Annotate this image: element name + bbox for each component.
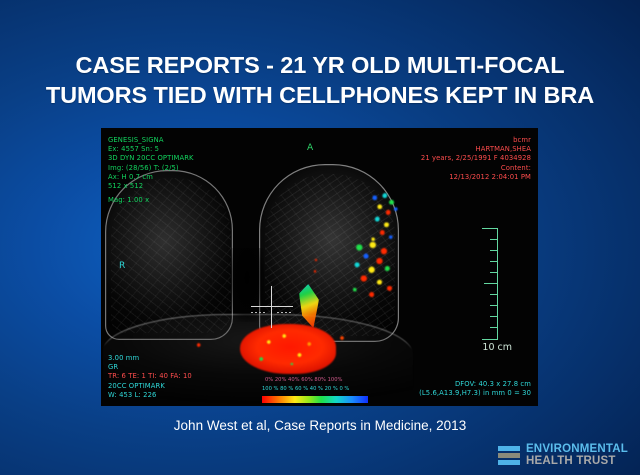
perfusion-overlay-speck-2 <box>336 332 348 344</box>
ruler-tick-major-bottom <box>482 339 498 340</box>
mri-footer-right: DFOV: 40.3 x 27.8 cm (L5.6,A13.9,H7.3) i… <box>419 380 531 398</box>
ruler-spine <box>497 228 498 340</box>
mri-image-panel: GENESIS_SIGNA Ex: 4557 Sn: 5 3D DYN 20CC… <box>101 128 538 406</box>
colorbar-caption-top: 0% 20% 40% 60% 80% 100% <box>265 377 342 384</box>
mri-slice-position: Ax: H 0.7 cm <box>108 173 194 182</box>
mri-institution: bcmr <box>421 136 531 145</box>
ruler-tick-minor <box>490 261 498 262</box>
page-title: CASE REPORTS - 21 YR OLD MULTI-FOCAL TUM… <box>0 50 640 110</box>
mri-protocol: 3D DYN 20CC OPTIMARK <box>108 154 194 163</box>
perfusion-colorbar <box>262 396 368 403</box>
mri-dfov: DFOV: 40.3 x 27.8 cm <box>419 380 531 389</box>
mri-magnification: Mag: 1.00 x <box>108 196 149 205</box>
ruler-tick-minor <box>490 294 498 295</box>
mri-patient-name: HARTMAN,SHEA <box>421 145 531 154</box>
mri-window-level: W: 453 L: 226 <box>108 391 192 400</box>
ruler-tick-major-top <box>482 228 498 229</box>
mri-image-index: Img: (28/56) T: (2/5) <box>108 164 194 173</box>
bar-stack-icon <box>498 446 520 465</box>
crosshair-marker <box>251 286 293 328</box>
mri-sequence-params: TR: 6 TE: 1 TI: 40 FA: 10 <box>108 372 192 381</box>
logo-line-1: ENVIRONMENTAL <box>526 444 628 456</box>
ruler-tick-mid <box>484 283 498 284</box>
colorbar-caption-bottom: 100 % 80 % 60 % 40 % 20 % 0 % <box>262 386 349 393</box>
mri-exam-series: Ex: 4557 Sn: 5 <box>108 145 194 154</box>
mri-content-datetime: 12/13/2012 2:04:01 PM <box>421 173 531 182</box>
mri-header-right: bcmr HARTMAN,SHEA 21 years, 2/25/1991 F … <box>421 136 531 182</box>
mri-patient-details: 21 years, 2/25/1991 F 4034928 <box>421 154 531 163</box>
perfusion-overlay-mid <box>347 240 403 302</box>
scale-ruler-label: 10 cm <box>482 342 512 353</box>
organization-logo: ENVIRONMENTAL HEALTH TRUST <box>498 444 628 467</box>
orientation-marker-anterior: A <box>307 144 313 153</box>
perfusion-overlay-large-speckles <box>240 324 336 374</box>
mri-station-name: GENESIS_SIGNA <box>108 136 194 145</box>
mri-slice-thickness: 3.00 mm <box>108 354 192 363</box>
source-caption: John West et al, Case Reports in Medicin… <box>0 418 640 433</box>
mri-header-left: GENESIS_SIGNA Ex: 4557 Sn: 5 3D DYN 20CC… <box>108 136 194 191</box>
perfusion-overlay-speck-1 <box>193 340 207 350</box>
ruler-tick-minor <box>490 316 498 317</box>
logo-text: ENVIRONMENTAL HEALTH TRUST <box>526 444 628 467</box>
mri-coordinates: (L5.6,A13.9,H7.3) in mm 0 = 30 <box>419 389 531 398</box>
presentation-slide: CASE REPORTS - 21 YR OLD MULTI-FOCAL TUM… <box>0 0 640 475</box>
mri-footer-left: 3.00 mm GR TR: 6 TE: 1 TI: 40 FA: 10 20C… <box>108 354 192 400</box>
crosshair-horizontal-line <box>251 306 293 307</box>
crosshair-dash-right <box>277 312 293 313</box>
ruler-tick-minor <box>490 272 498 273</box>
ruler-tick-minor <box>490 305 498 306</box>
mri-sequence-type: GR <box>108 363 192 372</box>
crosshair-vertical-line <box>271 286 272 328</box>
ruler-tick-minor <box>490 250 498 251</box>
title-line-2: TUMORS TIED WITH CELLPHONES KEPT IN BRA <box>14 80 626 110</box>
logo-line-2: HEALTH TRUST <box>526 456 628 468</box>
orientation-marker-right: R <box>119 262 125 271</box>
mri-contrast-agent: 20CC OPTIMARK <box>108 382 192 391</box>
ruler-tick-minor <box>490 327 498 328</box>
ruler-tick-minor <box>490 239 498 240</box>
crosshair-dash-left <box>251 312 267 313</box>
mri-content-label: Content: <box>421 164 531 173</box>
title-line-1: CASE REPORTS - 21 YR OLD MULTI-FOCAL <box>14 50 626 80</box>
perfusion-overlay-speck-3 <box>311 256 321 278</box>
scale-ruler <box>476 228 498 340</box>
perfusion-overlay-upper <box>363 190 405 246</box>
mri-matrix-size: 512 x 512 <box>108 182 194 191</box>
